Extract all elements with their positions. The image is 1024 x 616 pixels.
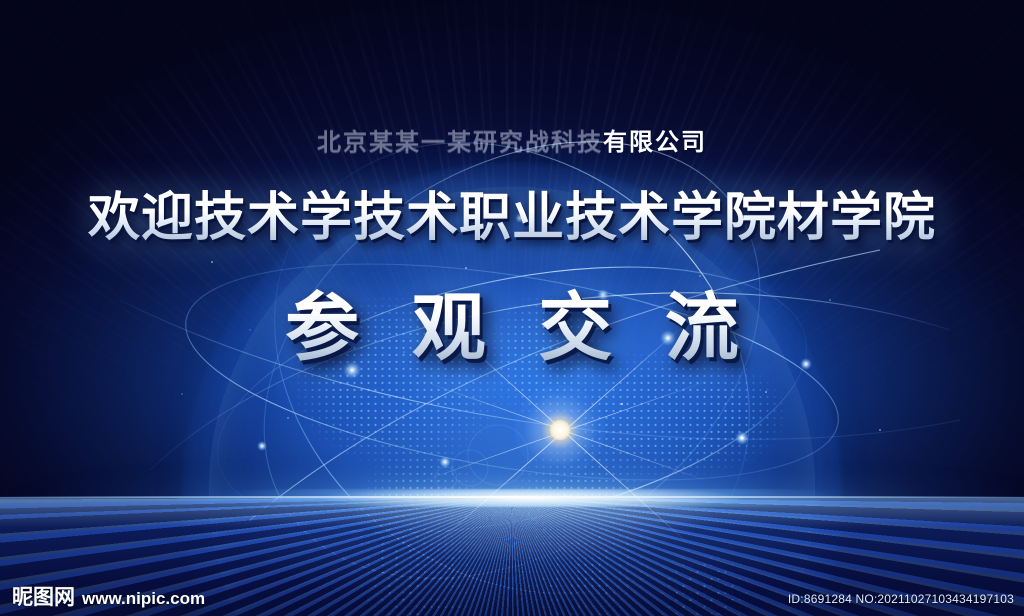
poster-canvas: 北京某某一某研究战科技有限公司 欢迎技术学技术职业技术学院材学院 参 观 交 流… (0, 0, 1024, 616)
dotted-world-globe (232, 190, 792, 616)
company-name-line: 北京某某一某研究战科技有限公司 (0, 122, 1024, 157)
main-title: 参 观 交 流 (0, 268, 1024, 375)
horizon-light-beam (0, 489, 1024, 507)
watermark-branding: 昵图网 www.nipic.com (12, 587, 205, 608)
nipic-logo-text: 昵图网 (12, 587, 75, 608)
globe-rim (209, 187, 815, 616)
welcome-headline: 欢迎技术学技术职业技术学院材学院 (0, 175, 1024, 250)
image-id-label: ID:8691284 NO:20211027103434197103 (788, 592, 1014, 606)
company-name-visible: 有限公司 (603, 129, 707, 156)
horizon-hairline (0, 496, 1024, 498)
company-name-faded: 北京某某一某研究战科技 (317, 129, 603, 156)
horizon-glow (0, 470, 1024, 526)
nipic-url-text: www.nipic.com (82, 590, 205, 608)
